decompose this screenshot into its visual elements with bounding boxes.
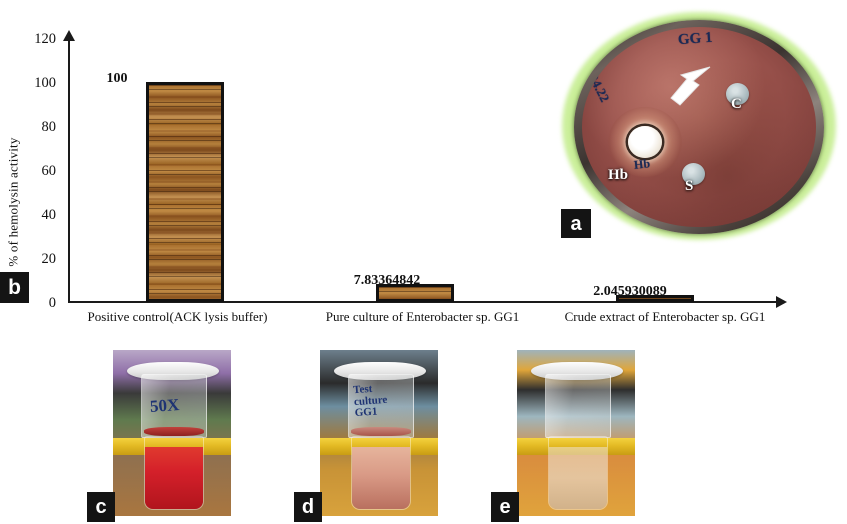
- bar-value-crude-extract: 2.045930089: [556, 285, 704, 299]
- photo-d-pellet: [351, 427, 411, 436]
- bar-value-pure-culture: 7.83364842: [318, 274, 456, 288]
- plate-label-c: C: [731, 96, 742, 113]
- x-label-positive-control: Positive control(ACK lysis buffer): [60, 310, 295, 324]
- plate-well-ink-label: Hb: [633, 156, 650, 173]
- y-tick-120: 120: [10, 32, 56, 47]
- bar-positive-control: [146, 82, 224, 302]
- plate-label-s: S: [685, 178, 693, 195]
- panel-c-tube-photo: 50X: [113, 350, 231, 516]
- photo-d-fluid: [352, 447, 410, 509]
- x-label-pure-culture: Pure culture of Enterobacter sp. GG1: [300, 310, 545, 324]
- panel-e-tube-photo: [517, 350, 635, 516]
- y-tick-100: 100: [10, 76, 56, 91]
- panel-label-c: c: [87, 492, 115, 522]
- photo-d-tube-upper: Test culture GG1: [348, 374, 414, 438]
- y-tick-80: 80: [10, 120, 56, 135]
- figure-root: % of hemolysin activity 120 100 80 60 40…: [0, 0, 847, 524]
- photo-d-tube-lower: [351, 436, 411, 510]
- x-label-crude-extract: Crude extract of Enterobacter sp. GG1: [540, 310, 790, 324]
- photo-c-tube-upper: 50X: [141, 374, 207, 438]
- panel-label-d: d: [294, 492, 322, 522]
- photo-c-pellet: [144, 427, 204, 436]
- panel-label-e: e: [491, 492, 519, 522]
- photo-c-fluid: [145, 447, 203, 509]
- photo-c-tube-ink: 50X: [149, 396, 179, 416]
- panel-d-tube-photo: Test culture GG1: [320, 350, 438, 516]
- hemoglobin-well: [628, 126, 662, 158]
- plate-handwriting-gg1: GG 1: [677, 30, 713, 49]
- blood-agar-medium: GG 1 21.04.22 Hb: [582, 27, 816, 227]
- bar-value-positive-control: 100: [68, 72, 166, 86]
- photo-d-tube-ink: Test culture GG1: [353, 383, 389, 420]
- y-tick-20: 20: [10, 252, 56, 267]
- plate-label-hb: Hb: [608, 167, 628, 184]
- panel-label-b: b: [0, 272, 29, 303]
- photo-c-tube-lower: [144, 436, 204, 510]
- y-tick-60: 60: [10, 164, 56, 179]
- y-tick-40: 40: [10, 208, 56, 223]
- photo-e-fluid: [549, 447, 607, 509]
- white-arrow-icon: [666, 65, 712, 113]
- panel-a-blood-agar-plate: GG 1 21.04.22 Hb Hb C S: [556, 8, 842, 246]
- photo-e-tube-lower: [548, 436, 608, 510]
- photo-e-tube-upper: [545, 374, 611, 438]
- panel-label-a: a: [561, 209, 591, 238]
